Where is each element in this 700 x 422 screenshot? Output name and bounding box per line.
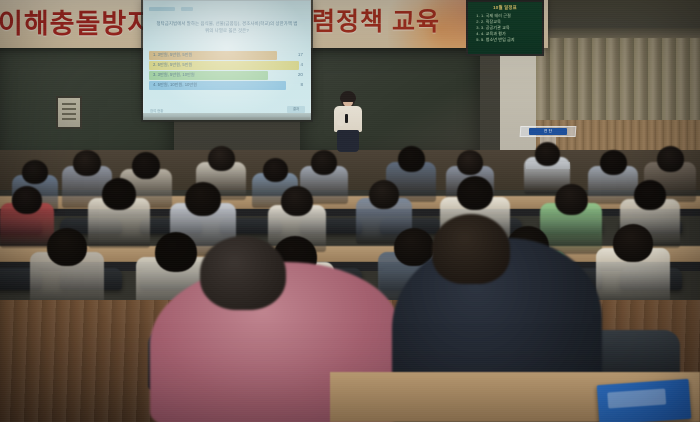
- poll-answer-label: 4. 5만원, 10만원, 10만원: [149, 82, 197, 88]
- poll-answer-count: 20: [298, 71, 303, 80]
- audience-person-head: [555, 184, 588, 215]
- audience-person-head: [457, 150, 483, 175]
- audience-person-head: [281, 186, 313, 216]
- poll-answer-count: 4: [300, 61, 303, 70]
- audience-person-head: [263, 158, 288, 182]
- audience-person-head: [600, 150, 627, 175]
- audience-person-head: [657, 146, 684, 172]
- foreground-book: [597, 379, 692, 422]
- audience-person-head: [185, 182, 221, 216]
- lecture-hall-photo: 이해충돌방지 청렴정책 교육 10월 일정표 1. 국제 테러 근절2. 직장교…: [0, 0, 700, 422]
- audience-person: [596, 224, 670, 310]
- audience-person-head: [12, 186, 42, 214]
- audience-person-head: [634, 180, 666, 210]
- poll-answer-count: 17: [298, 51, 303, 60]
- audience-person-head: [369, 180, 399, 209]
- audience-person-head: [535, 142, 560, 166]
- foreground-person-right-head: [432, 214, 510, 284]
- poll-answer-count: 8: [300, 81, 303, 90]
- audience-person-head: [311, 150, 337, 175]
- audience-person-head: [47, 228, 87, 266]
- audience-person-head: [457, 176, 493, 210]
- audience-person-head: [73, 150, 101, 176]
- audience-person-head: [398, 146, 425, 172]
- audience-person-head: [22, 160, 48, 184]
- audience-person-head: [102, 178, 136, 210]
- poll-answer-label: 3. 3만원, 5만원, 10만원: [149, 72, 195, 78]
- audience-person-head: [132, 152, 160, 179]
- poll-answer-label: 1. 3만원, 5만원, 5만원: [149, 52, 192, 58]
- audience-person-head: [208, 146, 235, 171]
- audience-person-head: [613, 224, 653, 262]
- poll-answer-label: 2. 5만원, 5만원, 5만원: [149, 62, 192, 68]
- audience-person-head: [155, 232, 197, 272]
- foreground-person-left-head: [200, 236, 286, 310]
